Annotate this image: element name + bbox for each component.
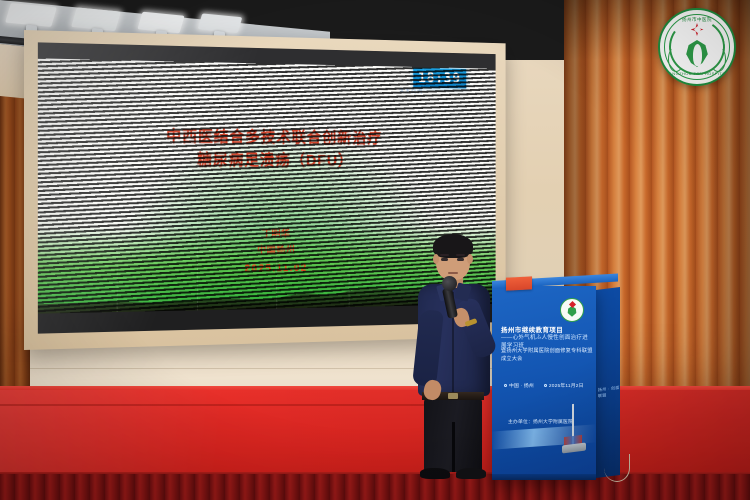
speaker-ear-right (467, 254, 473, 264)
logo-text-top: 扬州市中医院 (660, 17, 734, 23)
podium-title-line1: 扬州市继续教育项目 (501, 324, 563, 334)
speaker-ear-left (433, 254, 439, 264)
stage-skirt (0, 474, 750, 500)
speaker-mouth (448, 272, 458, 274)
calendar-icon (544, 384, 547, 387)
speaker-eyebrow-right (456, 254, 465, 256)
podium-meta-date: 2025年11月2日 (549, 382, 584, 389)
logo-text-bottom: YANGZHOU TCM HOSPITAL (660, 71, 734, 76)
speaker-eyebrow-left (440, 254, 449, 256)
podium-location-item: 中国 · 扬州 (504, 382, 534, 389)
clock-display: 18:39 (413, 67, 466, 88)
slide-title-line2: 糖尿病足溃疡（DFU） (68, 148, 471, 173)
speaker-leg-separation (452, 422, 455, 472)
floor-lighting-sheen (0, 390, 750, 476)
carpet-fold-line (0, 404, 430, 406)
ceiling-light-icon (5, 3, 57, 27)
podium-meta-row: 中国 · 扬州 2025年11月2日 (504, 382, 594, 389)
speaker-figure (408, 232, 504, 480)
hospital-logo-icon: 扬州市中医院 YANGZHOU TCM HOSPITAL (658, 8, 736, 86)
podium-meta-location: 中国 · 扬州 (509, 382, 534, 389)
speaker-shoe-right (456, 468, 486, 479)
podium-cable (604, 454, 630, 482)
ceiling-light-icon (198, 13, 243, 32)
logo-wreath-left-icon (668, 46, 684, 72)
slide-subtitle-block: 丁明华 中国扬州 2025.11.02 (87, 225, 453, 281)
podium-date-item: 2025年11月2日 (544, 382, 584, 389)
location-pin-icon (504, 384, 507, 387)
podium-title-line3: 暨扬州大学附属医院创面修复专科联盟成立大会 (501, 348, 593, 364)
speaker-shoe-left (420, 468, 450, 479)
logo-wreath-right-icon (710, 46, 726, 72)
podium-hospital-logo-icon (560, 298, 584, 322)
slide-corner-text: 学术交流 (399, 87, 423, 96)
speaker-eye-right (457, 258, 464, 261)
logo-leaf-notch (693, 44, 702, 66)
slide-title: 中西医结合多技术联合创新治疗 糖尿病足溃疡（DFU） (68, 124, 471, 173)
podium-organizer: 主办单位：扬州大学附属医院 (508, 418, 592, 425)
podium-base (492, 474, 596, 480)
podium-lectern: 扬州市继续教育项目 ——心外气机ふ人慢性创面治疗进展学习班 暨扬州大学附属医院创… (492, 286, 620, 480)
podium-logo-cross-icon (568, 300, 575, 307)
speaker-eye-left (441, 258, 448, 261)
podium-side-panel (596, 287, 620, 478)
slide-title-line1: 中西医结合多技术联合创新治疗 (166, 128, 382, 146)
conference-stage-photo: 18:39 学术交流 中西医结合多技术联合创新治疗 糖尿病足溃疡（DFU） 丁明… (0, 0, 750, 500)
speaker-belt-buckle (448, 393, 458, 399)
podium-red-card (506, 276, 532, 290)
